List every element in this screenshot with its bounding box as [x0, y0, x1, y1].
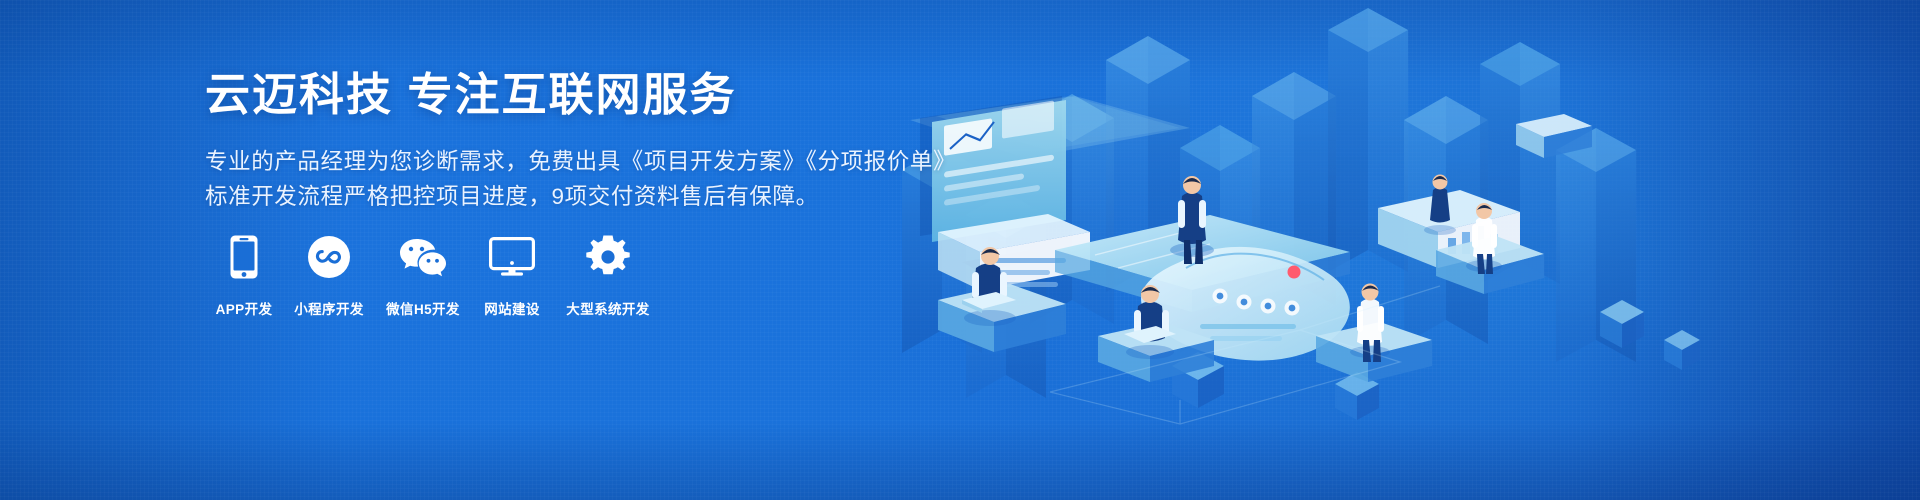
service-label: 小程序开发 [294, 298, 364, 318]
isometric-tech-team-illustration [880, 0, 1920, 500]
standing-figure-right [1350, 284, 1390, 363]
subtitle-line-1: 专业的产品经理为您诊断需求，免费出具《项目开发方案》《分项报价单》 [205, 145, 925, 180]
mini-program-icon [307, 232, 351, 282]
service-label: APP开发 [216, 298, 273, 318]
service-item-wechat-h5[interactable]: 微信H5开发 [375, 232, 471, 318]
banner-subtitle: 专业的产品经理为您诊断需求，免费出具《项目开发方案》《分项报价单》 标准开发流程… [205, 145, 925, 215]
service-label: 微信H5开发 [386, 298, 460, 318]
hero-banner: 云迈科技 专注互联网服务 专业的产品经理为您诊断需求，免费出具《项目开发方案》《… [0, 0, 1920, 500]
gear-icon [586, 232, 630, 282]
service-item-large-system[interactable]: 大型系统开发 [553, 232, 663, 318]
service-item-app[interactable]: APP开发 [205, 232, 283, 318]
service-label: 大型系统开发 [566, 298, 649, 318]
monitor-icon [489, 232, 535, 282]
banner-copy: 云迈科技 专注互联网服务 专业的产品经理为您诊断需求，免费出具《项目开发方案》《… [205, 68, 925, 215]
service-label: 网站建设 [484, 298, 540, 318]
service-item-mini-program[interactable]: 小程序开发 [283, 232, 375, 318]
subtitle-line-2: 标准开发流程严格把控项目进度，9项交付资料售后有保障。 [205, 180, 925, 215]
wechat-icon [399, 232, 447, 282]
accent-marker [1288, 266, 1301, 279]
mobile-phone-icon [229, 232, 259, 282]
page-title: 云迈科技 专注互联网服务 [205, 68, 925, 121]
service-list: APP开发 小程序开发 微信 [205, 232, 663, 318]
service-item-website[interactable]: 网站建设 [471, 232, 553, 318]
